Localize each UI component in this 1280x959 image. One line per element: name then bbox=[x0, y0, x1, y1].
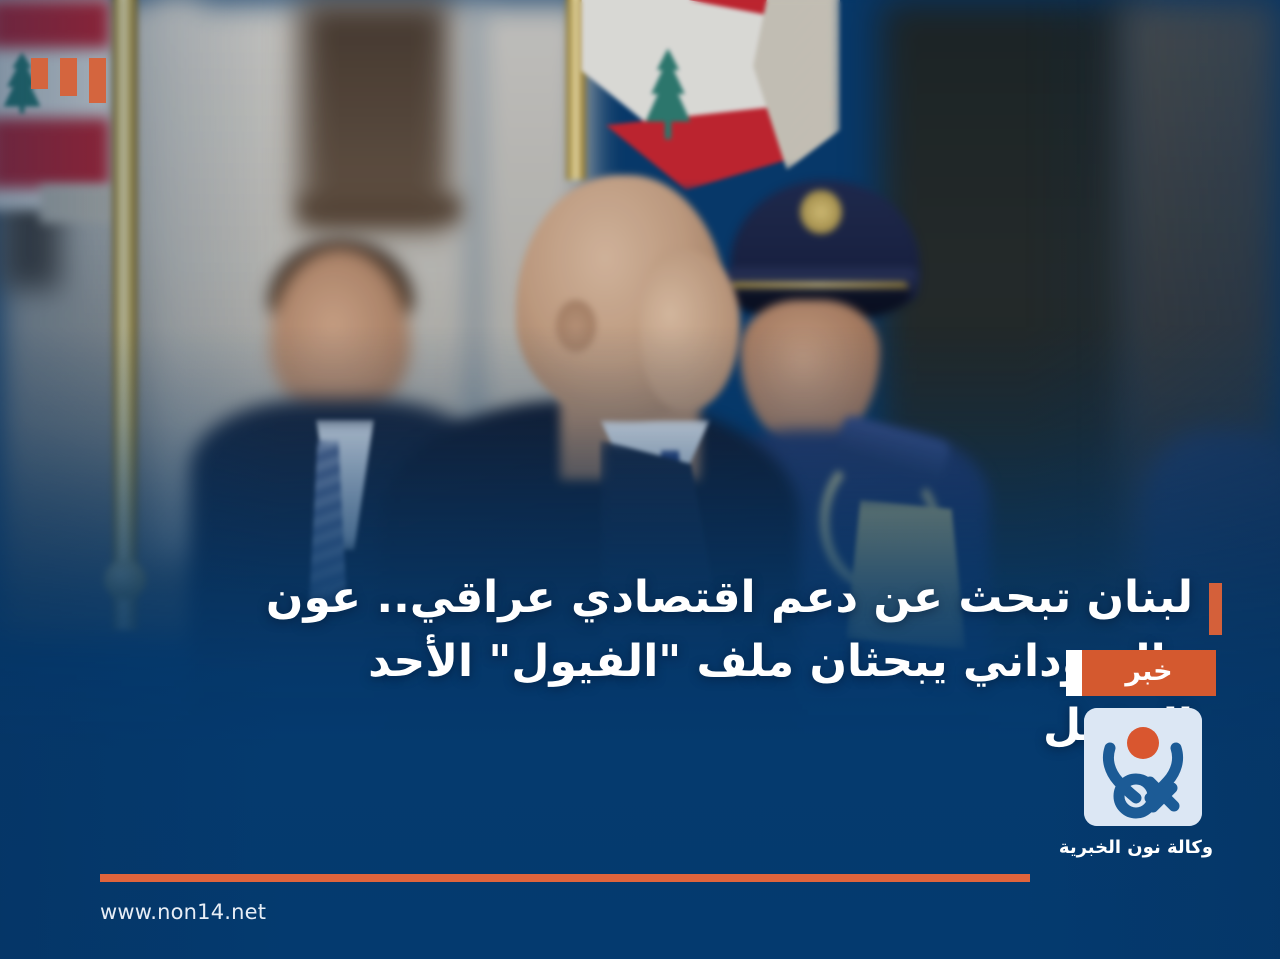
news-card: لبنان تبحث عن دعم اقتصادي عراقي.. عون وا… bbox=[0, 0, 1280, 959]
horizontal-rule-icon bbox=[100, 874, 1030, 882]
decor-bar-2 bbox=[60, 58, 77, 96]
white-strip-icon bbox=[1066, 650, 1082, 696]
decor-bar-3 bbox=[31, 58, 48, 89]
three-bars-decor-icon bbox=[31, 58, 106, 103]
vertical-accent-bar-icon bbox=[1209, 583, 1222, 635]
decor-bar-1 bbox=[89, 58, 106, 103]
noon-dot-icon bbox=[1127, 727, 1159, 759]
noon-agency-logo-icon bbox=[1084, 708, 1202, 826]
site-url: www.non14.net bbox=[100, 900, 266, 924]
news-badge-label: خبر bbox=[1125, 658, 1172, 688]
brand-block: خبر وكالة نون الخبرية bbox=[1048, 650, 1224, 858]
brand-name: وكالة نون الخبرية bbox=[1048, 837, 1224, 858]
news-badge: خبر bbox=[1082, 650, 1216, 696]
